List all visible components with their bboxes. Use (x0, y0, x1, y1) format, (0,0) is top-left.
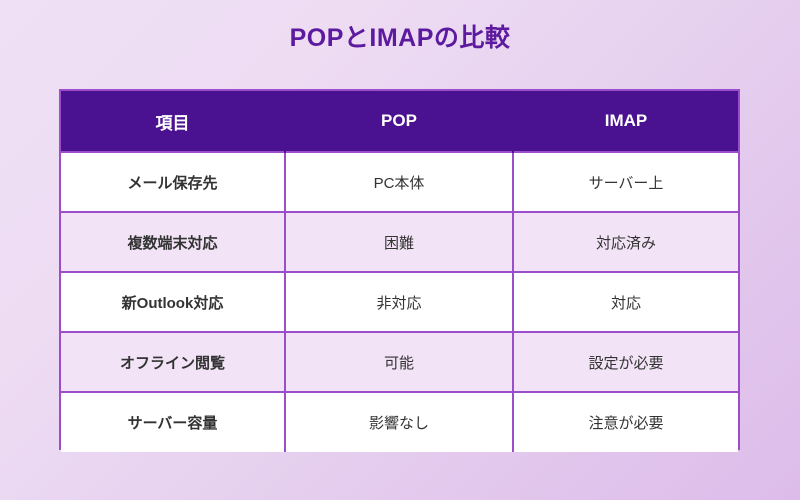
slide-canvas: POPとIMAPの比較 項目 POP IMAP メール保存先 PC本体 サーバー… (0, 0, 800, 500)
cell-imap: 対応済み (513, 212, 738, 272)
cell-pop: 困難 (285, 212, 513, 272)
cell-item: 新Outlook対応 (61, 272, 285, 332)
cell-pop: 影響なし (285, 392, 513, 452)
cell-item: サーバー容量 (61, 392, 285, 452)
cell-imap: サーバー上 (513, 152, 738, 212)
cell-imap: 注意が必要 (513, 392, 738, 452)
table-row: サーバー容量 影響なし 注意が必要 (61, 392, 738, 452)
cell-imap: 設定が必要 (513, 332, 738, 392)
cell-item: メール保存先 (61, 152, 285, 212)
comparison-table-container: 項目 POP IMAP メール保存先 PC本体 サーバー上 複数端末対応 困難 … (59, 89, 740, 450)
table-row: オフライン閲覧 可能 設定が必要 (61, 332, 738, 392)
cell-pop: PC本体 (285, 152, 513, 212)
cell-item: オフライン閲覧 (61, 332, 285, 392)
column-header-item: 項目 (61, 91, 285, 152)
table-row: 新Outlook対応 非対応 対応 (61, 272, 738, 332)
table-header-row: 項目 POP IMAP (61, 91, 738, 152)
comparison-table: 項目 POP IMAP メール保存先 PC本体 サーバー上 複数端末対応 困難 … (61, 91, 738, 452)
table-row: 複数端末対応 困難 対応済み (61, 212, 738, 272)
cell-item: 複数端末対応 (61, 212, 285, 272)
column-header-pop: POP (285, 91, 513, 152)
cell-pop: 非対応 (285, 272, 513, 332)
table-header: 項目 POP IMAP (61, 91, 738, 152)
table-row: メール保存先 PC本体 サーバー上 (61, 152, 738, 212)
cell-pop: 可能 (285, 332, 513, 392)
column-header-imap: IMAP (513, 91, 738, 152)
cell-imap: 対応 (513, 272, 738, 332)
page-title: POPとIMAPの比較 (0, 18, 800, 54)
table-body: メール保存先 PC本体 サーバー上 複数端末対応 困難 対応済み 新Outloo… (61, 152, 738, 452)
